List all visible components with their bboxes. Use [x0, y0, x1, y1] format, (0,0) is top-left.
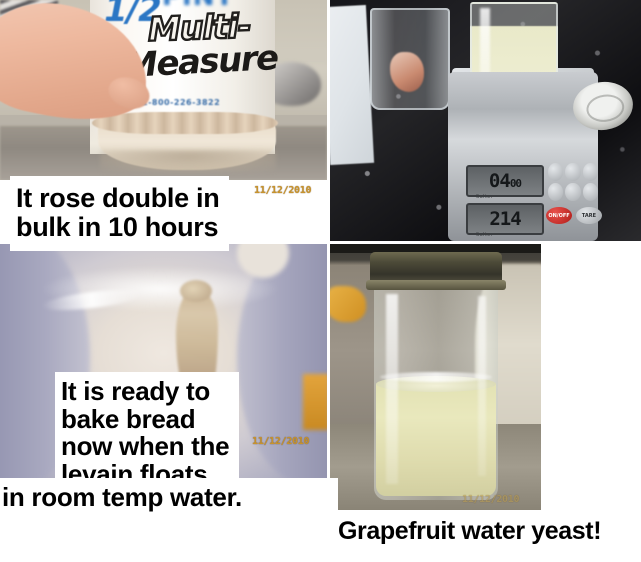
jar-highlight-left — [386, 294, 398, 484]
photo-collage: 1/2 PINT Multi- Measure 1-800-226-3822 0… — [0, 0, 641, 562]
caption-in-room-temp-water: in room temp water. — [0, 478, 338, 522]
levain-crown — [180, 280, 212, 302]
jar-lid-edge — [366, 280, 506, 290]
caption-ready-to-bake: It is ready to bake bread now when the l… — [55, 372, 239, 488]
keypad-button-1 — [548, 163, 563, 181]
keypad-button-3 — [583, 163, 598, 181]
scale-tare-button: TARE — [576, 207, 602, 224]
jar-highlight-right — [478, 296, 486, 476]
container-phone-text: 1-800-226-3822 — [142, 98, 220, 107]
background-orange-object — [303, 374, 327, 430]
keypad-button-6 — [583, 183, 598, 201]
scale-keypad — [548, 163, 598, 201]
photo-jar-on-digital-scale: 0400 Salter 214 Salter ON/OFF TARE 11/12… — [330, 0, 641, 241]
dough-shadow — [100, 150, 276, 172]
caption-grapefruit-water-yeast: Grapefruit water yeast! — [330, 510, 641, 555]
keypad-button-4 — [548, 183, 563, 201]
scale-brand-label-bottom: Salter — [476, 232, 493, 238]
keypad-button-5 — [565, 183, 580, 201]
lcd-weight-value: 214 — [489, 208, 520, 230]
datestamp-jar: 11/12/2010 — [462, 494, 519, 505]
container-brand-line2: Measure — [123, 38, 278, 86]
background-orange-object — [330, 286, 366, 322]
photo-dough-risen-in-container: 1/2 PINT Multi- Measure 1-800-226-3822 — [0, 0, 327, 180]
photo-grapefruit-water-yeast-jar — [330, 244, 541, 510]
scale-lcd-timer-display: 0400 — [466, 165, 544, 197]
scale-brand-label-top: Salter — [476, 194, 493, 200]
scale-lcd-weight-display: 214 — [466, 203, 544, 235]
lcd-timer-value: 0400 — [489, 170, 521, 192]
keypad-button-2 — [565, 163, 580, 181]
datestamp-levain: 11/12/2010 — [252, 436, 309, 447]
caption-rose-double-in-bulk: It rose double in bulk in 10 hours — [10, 176, 229, 251]
container-crimped-rim — [92, 112, 278, 134]
grapefruit-peel-piece — [390, 52, 424, 92]
datestamp-dough: 11/12/2010 — [254, 185, 311, 196]
scale-onoff-button: ON/OFF — [546, 207, 572, 224]
